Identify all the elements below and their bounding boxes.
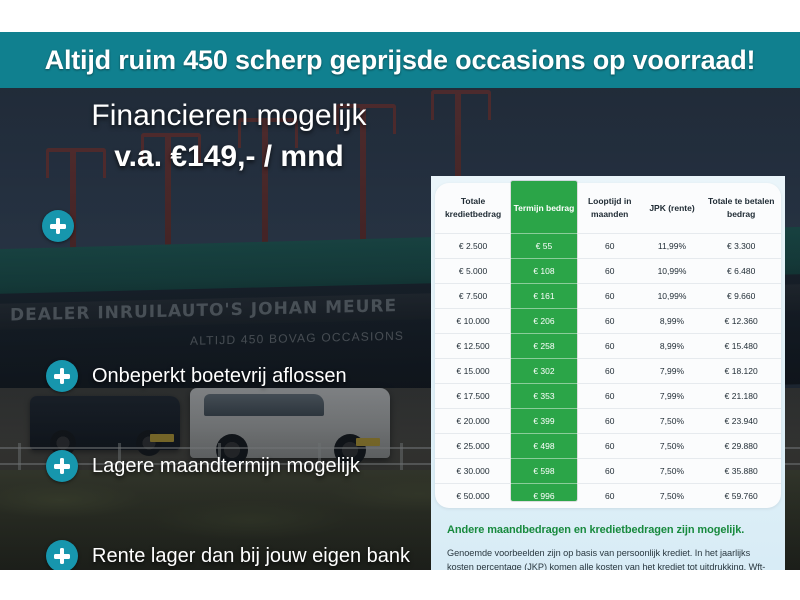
cell-looptijd: 60 bbox=[577, 284, 643, 309]
cell-termijn: € 206 bbox=[511, 309, 577, 334]
cell-termijn: € 353 bbox=[511, 384, 577, 409]
cell-totaal: € 35.880 bbox=[701, 459, 781, 484]
cell-jkp: 8,99% bbox=[643, 309, 702, 334]
cell-looptijd: 60 bbox=[577, 259, 643, 284]
table-row: € 12.500€ 258608,99%€ 15.480 bbox=[435, 334, 781, 359]
main-stage: DEALER INRUILAUTO'S JOHAN MEURE ALTIJD 4… bbox=[0, 88, 800, 570]
cell-krediet: € 30.000 bbox=[435, 459, 511, 484]
cell-looptijd: 60 bbox=[577, 359, 643, 384]
plus-icon bbox=[46, 360, 78, 392]
feature-item-rente: Rente lager dan bij jouw eigen bank bbox=[46, 540, 410, 570]
cell-jkp: 8,99% bbox=[643, 334, 702, 359]
feature-item-label: Onbeperkt boetevrij aflossen bbox=[92, 365, 347, 388]
cell-totaal: € 6.480 bbox=[701, 259, 781, 284]
table-row: € 25.000€ 498607,50%€ 29.880 bbox=[435, 434, 781, 459]
cell-termijn: € 161 bbox=[511, 284, 577, 309]
cell-totaal: € 3.300 bbox=[701, 234, 781, 259]
column-header-jkp: JPK (rente) bbox=[643, 183, 702, 234]
cell-jkp: 7,50% bbox=[643, 434, 702, 459]
plus-icon bbox=[46, 540, 78, 570]
cell-totaal: € 18.120 bbox=[701, 359, 781, 384]
rates-table-body: € 2.500€ 556011,99%€ 3.300€ 5.000€ 10860… bbox=[435, 234, 781, 509]
cell-totaal: € 59.760 bbox=[701, 484, 781, 509]
cell-krediet: € 10.000 bbox=[435, 309, 511, 334]
cell-totaal: € 9.660 bbox=[701, 284, 781, 309]
cell-looptijd: 60 bbox=[577, 384, 643, 409]
table-header-row: Totale kredietbedrag Termijn bedrag Loop… bbox=[435, 183, 781, 234]
cell-jkp: 10,99% bbox=[643, 284, 702, 309]
cell-jkp: 7,50% bbox=[643, 409, 702, 434]
cell-jkp: 7,50% bbox=[643, 459, 702, 484]
cell-termijn: € 258 bbox=[511, 334, 577, 359]
headline-line-2: v.a. €149,- / mnd bbox=[34, 136, 424, 178]
disclaimer-heading: Andere maandbedragen en kredietbedragen … bbox=[447, 522, 767, 538]
cell-termijn: € 55 bbox=[511, 234, 577, 259]
cell-krediet: € 20.000 bbox=[435, 409, 511, 434]
table-row: € 2.500€ 556011,99%€ 3.300 bbox=[435, 234, 781, 259]
promo-banner: Altijd ruim 450 scherp geprijsde occasio… bbox=[0, 32, 800, 88]
cell-jkp: 10,99% bbox=[643, 259, 702, 284]
cell-jkp: 7,99% bbox=[643, 384, 702, 409]
finance-panel: Totale kredietbedrag Termijn bedrag Loop… bbox=[431, 176, 785, 570]
cell-termijn: € 498 bbox=[511, 434, 577, 459]
cell-krediet: € 7.500 bbox=[435, 284, 511, 309]
cell-looptijd: 60 bbox=[577, 459, 643, 484]
table-row: € 7.500€ 1616010,99%€ 9.660 bbox=[435, 284, 781, 309]
cell-krediet: € 5.000 bbox=[435, 259, 511, 284]
cell-looptijd: 60 bbox=[577, 434, 643, 459]
cell-totaal: € 23.940 bbox=[701, 409, 781, 434]
cell-totaal: € 12.360 bbox=[701, 309, 781, 334]
plus-icon bbox=[42, 210, 74, 242]
cell-termijn: € 598 bbox=[511, 459, 577, 484]
feature-item-label: Lagere maandtermijn mogelijk bbox=[92, 455, 360, 478]
cell-looptijd: 60 bbox=[577, 484, 643, 509]
column-header-krediet: Totale kredietbedrag bbox=[435, 183, 511, 234]
rates-table: Totale kredietbedrag Termijn bedrag Loop… bbox=[435, 183, 781, 508]
promo-banner-text: Altijd ruim 450 scherp geprijsde occasio… bbox=[45, 45, 756, 76]
table-row: € 17.500€ 353607,99%€ 21.180 bbox=[435, 384, 781, 409]
column-header-looptijd: Looptijd in maanden bbox=[577, 183, 643, 234]
cell-krediet: € 15.000 bbox=[435, 359, 511, 384]
column-header-totaal: Totale te betalen bedrag bbox=[701, 183, 781, 234]
cell-looptijd: 60 bbox=[577, 334, 643, 359]
cell-krediet: € 25.000 bbox=[435, 434, 511, 459]
table-row: € 50.000€ 996607,50%€ 59.760 bbox=[435, 484, 781, 509]
headline-plus-marker bbox=[42, 210, 74, 242]
table-row: € 10.000€ 206608,99%€ 12.360 bbox=[435, 309, 781, 334]
cell-totaal: € 21.180 bbox=[701, 384, 781, 409]
table-row: € 20.000€ 399607,50%€ 23.940 bbox=[435, 409, 781, 434]
column-header-termijn: Termijn bedrag bbox=[511, 183, 577, 234]
cell-totaal: € 29.880 bbox=[701, 434, 781, 459]
cell-krediet: € 12.500 bbox=[435, 334, 511, 359]
cell-krediet: € 50.000 bbox=[435, 484, 511, 509]
disclaimer-body: Genoemde voorbeelden zijn op basis van p… bbox=[447, 547, 767, 570]
top-white-strip bbox=[0, 0, 800, 32]
feature-item-label: Rente lager dan bij jouw eigen bank bbox=[92, 545, 410, 568]
cell-krediet: € 17.500 bbox=[435, 384, 511, 409]
table-row: € 15.000€ 302607,99%€ 18.120 bbox=[435, 359, 781, 384]
cell-jkp: 11,99% bbox=[643, 234, 702, 259]
headline: Financieren mogelijk v.a. €149,- / mnd bbox=[34, 96, 424, 178]
table-row: € 30.000€ 598607,50%€ 35.880 bbox=[435, 459, 781, 484]
cell-termijn: € 302 bbox=[511, 359, 577, 384]
cell-termijn: € 996 bbox=[511, 484, 577, 509]
feature-item-aflossen: Onbeperkt boetevrij aflossen bbox=[46, 360, 347, 392]
cell-totaal: € 15.480 bbox=[701, 334, 781, 359]
feature-item-maandtermijn: Lagere maandtermijn mogelijk bbox=[46, 450, 360, 482]
cell-looptijd: 60 bbox=[577, 234, 643, 259]
plus-icon bbox=[46, 450, 78, 482]
disclaimer-block: Andere maandbedragen en kredietbedragen … bbox=[447, 522, 767, 570]
rates-table-card: Totale kredietbedrag Termijn bedrag Loop… bbox=[435, 183, 781, 508]
feature-list: Financieren mogelijk v.a. €149,- / mnd O… bbox=[0, 88, 432, 570]
advertisement-banner: Altijd ruim 450 scherp geprijsde occasio… bbox=[0, 0, 800, 600]
cell-jkp: 7,99% bbox=[643, 359, 702, 384]
cell-krediet: € 2.500 bbox=[435, 234, 511, 259]
cell-looptijd: 60 bbox=[577, 309, 643, 334]
cell-looptijd: 60 bbox=[577, 409, 643, 434]
cell-jkp: 7,50% bbox=[643, 484, 702, 509]
bottom-white-strip bbox=[0, 570, 800, 600]
cell-termijn: € 399 bbox=[511, 409, 577, 434]
table-row: € 5.000€ 1086010,99%€ 6.480 bbox=[435, 259, 781, 284]
headline-line-1: Financieren mogelijk bbox=[34, 96, 424, 136]
cell-termijn: € 108 bbox=[511, 259, 577, 284]
